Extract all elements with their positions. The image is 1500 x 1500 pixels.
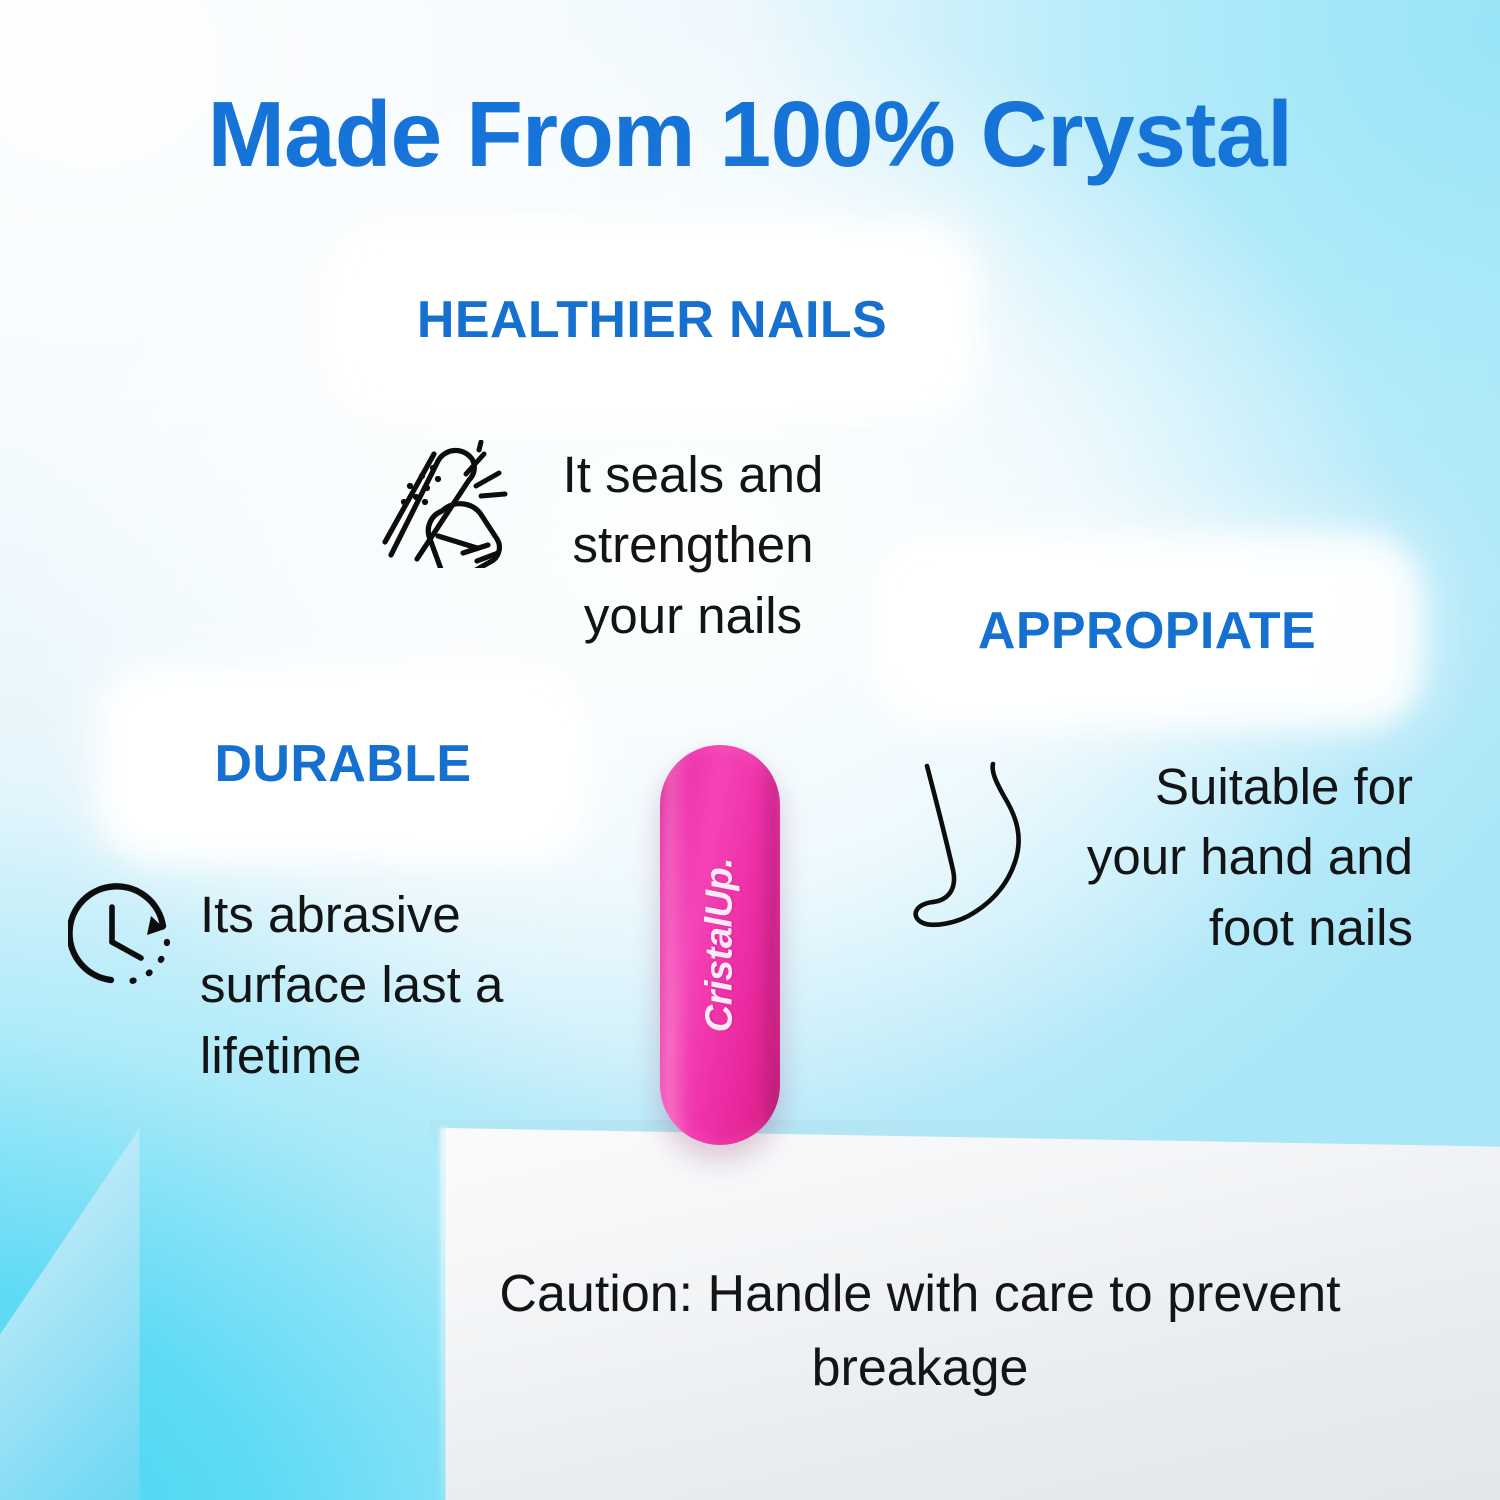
- badge-healthier-nails-label: HEALTHIER NAILS: [417, 290, 887, 350]
- page-title: Made From 100% Crystal: [0, 86, 1500, 184]
- badge-durable: DURABLE: [124, 692, 562, 836]
- badge-healthier-nails: HEALTHIER NAILS: [352, 249, 952, 391]
- feature-lifetime-text: Its abrasive surface last a lifetime: [200, 880, 530, 1091]
- page-title-light: Made From: [208, 82, 720, 186]
- badge-appropiate: APPROPIATE: [899, 561, 1395, 701]
- caution-note: Caution: Handle with care to prevent bre…: [420, 1258, 1420, 1406]
- clock-arrow-icon: [68, 880, 178, 995]
- page-title-strong: 100% Crystal: [719, 82, 1292, 186]
- feature-seals-and-strengthen: It seals and strengthen your nails: [380, 440, 850, 651]
- feature-seals-text: It seals and strengthen your nails: [537, 440, 849, 651]
- feature-lasts-a-lifetime: Its abrasive surface last a lifetime: [68, 880, 538, 1091]
- product-nail-file: CristalUp.: [660, 745, 780, 1145]
- product-brand-label: CristalUp.: [699, 858, 742, 1032]
- badge-durable-label: DURABLE: [214, 734, 471, 794]
- feature-suitable-text: Suitable for your hand and foot nails: [1065, 752, 1413, 963]
- feature-hand-and-foot: Suitable for your hand and foot nails: [905, 752, 1415, 963]
- foot-icon: [905, 752, 1055, 947]
- product-infographic-poster: Made From 100% Crystal HEALTHIER NAILS A…: [0, 0, 1500, 1500]
- nail-file-sparkle-icon: [380, 440, 515, 573]
- badge-appropiate-label: APPROPIATE: [978, 601, 1316, 661]
